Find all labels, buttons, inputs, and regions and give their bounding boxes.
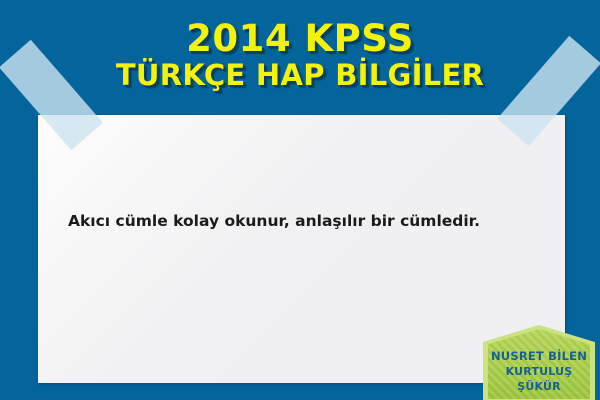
page-subtitle: TÜRKÇE HAP BİLGİLER	[0, 59, 600, 92]
logo-badge-text: NUSRET BİLEN KURTULUŞ ŞÜKÜR	[483, 349, 595, 394]
logo-author-names: NUSRET BİLEN	[483, 349, 595, 364]
logo-author-names-secondary: KURTULUŞ ŞÜKÜR	[483, 364, 595, 394]
page-title: 2014 KPSS	[0, 18, 600, 59]
info-card: 2014 KPSS TÜRKÇE HAP BİLGİLER Akıcı cüml…	[0, 0, 600, 400]
title-block: 2014 KPSS TÜRKÇE HAP BİLGİLER	[0, 18, 600, 92]
body-text: Akıcı cümle kolay okunur, anlaşılır bir …	[68, 210, 538, 232]
